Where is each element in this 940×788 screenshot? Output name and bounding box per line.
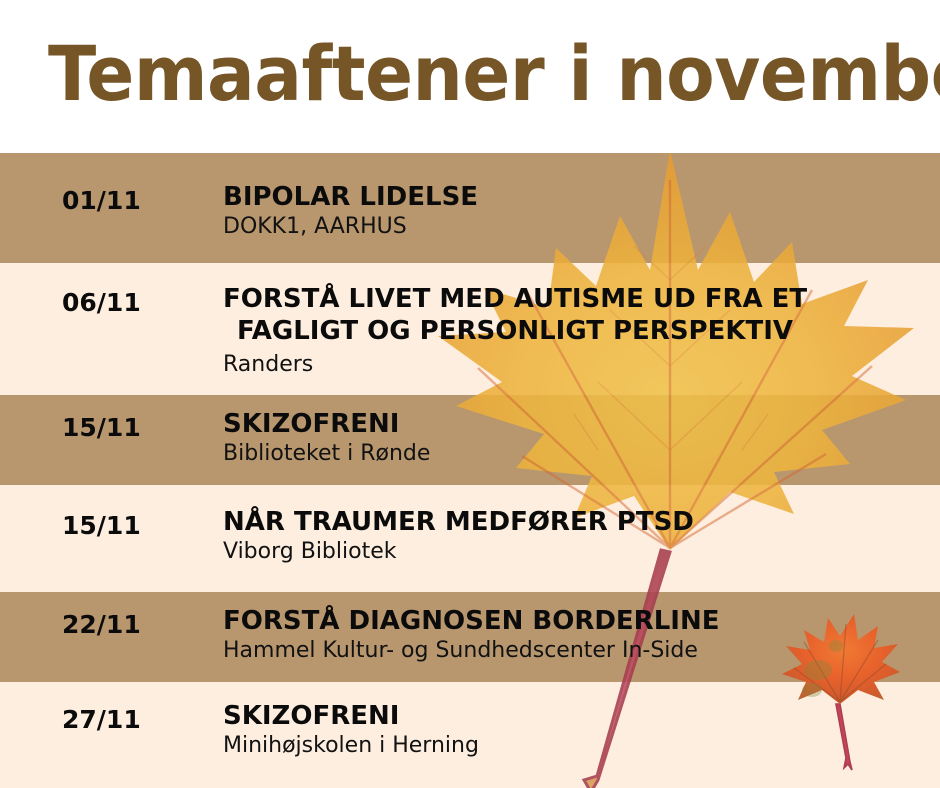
row-body: NÅR TRAUMER MEDFØRER PTSD Viborg Bibliot… <box>223 506 920 566</box>
row-venue: Randers <box>223 351 920 379</box>
schedule-row-3[interactable]: 15/11 SKIZOFRENI Biblioteket i Rønde <box>0 395 940 485</box>
row-date: 15/11 <box>62 511 141 541</box>
row-body: FORSTÅ LIVET MED AUTISME UD FRA ET FAGLI… <box>223 283 920 379</box>
row-venue: Biblioteket i Rønde <box>223 440 920 468</box>
poster-canvas: 01/11 BIPOLAR LIDELSE DOKK1, AARHUS 06/1… <box>0 0 940 788</box>
row-date: 01/11 <box>62 186 141 216</box>
row-venue: Hammel Kultur- og Sundhedscenter In-Side <box>223 637 920 665</box>
row-date: 06/11 <box>62 288 141 318</box>
row-venue: DOKK1, AARHUS <box>223 213 920 241</box>
row-title-line1: SKIZOFRENI <box>223 701 399 731</box>
row-title-line1: FORSTÅ LIVET MED AUTISME UD FRA ET <box>223 284 807 314</box>
schedule-row-1[interactable]: 01/11 BIPOLAR LIDELSE DOKK1, AARHUS <box>0 153 940 263</box>
row-title-line1: BIPOLAR LIDELSE <box>223 182 478 212</box>
row-body: BIPOLAR LIDELSE DOKK1, AARHUS <box>223 181 920 241</box>
row-venue: Minihøjskolen i Herning <box>223 732 920 760</box>
schedule-row-6[interactable]: 27/11 SKIZOFRENI Minihøjskolen i Herning <box>0 682 940 788</box>
row-date: 22/11 <box>62 610 141 640</box>
schedule-row-4[interactable]: 15/11 NÅR TRAUMER MEDFØRER PTSD Viborg B… <box>0 485 940 592</box>
row-title: FORSTÅ DIAGNOSEN BORDERLINE <box>223 605 920 637</box>
row-body: SKIZOFRENI Minihøjskolen i Herning <box>223 700 920 760</box>
row-title: FORSTÅ LIVET MED AUTISME UD FRA ET FAGLI… <box>223 283 920 347</box>
row-body: SKIZOFRENI Biblioteket i Rønde <box>223 408 920 468</box>
row-venue: Viborg Bibliotek <box>223 538 920 566</box>
row-title-line2: FAGLIGT OG PERSONLIGT PERSPEKTIV <box>223 315 920 347</box>
row-date: 15/11 <box>62 413 141 443</box>
row-title: SKIZOFRENI <box>223 700 920 732</box>
schedule-row-5[interactable]: 22/11 FORSTÅ DIAGNOSEN BORDERLINE Hammel… <box>0 592 940 682</box>
row-date: 27/11 <box>62 705 141 735</box>
row-title-line1: SKIZOFRENI <box>223 409 399 439</box>
row-title-line1: NÅR TRAUMER MEDFØRER PTSD <box>223 507 694 537</box>
row-title: BIPOLAR LIDELSE <box>223 181 920 213</box>
page-title: Temaaftener i november <box>48 26 940 122</box>
row-title: NÅR TRAUMER MEDFØRER PTSD <box>223 506 920 538</box>
row-body: FORSTÅ DIAGNOSEN BORDERLINE Hammel Kultu… <box>223 605 920 665</box>
row-title-line1: FORSTÅ DIAGNOSEN BORDERLINE <box>223 606 719 636</box>
poster-header: Temaaftener i november <box>0 0 940 153</box>
row-title: SKIZOFRENI <box>223 408 920 440</box>
schedule-row-2[interactable]: 06/11 FORSTÅ LIVET MED AUTISME UD FRA ET… <box>0 263 940 395</box>
